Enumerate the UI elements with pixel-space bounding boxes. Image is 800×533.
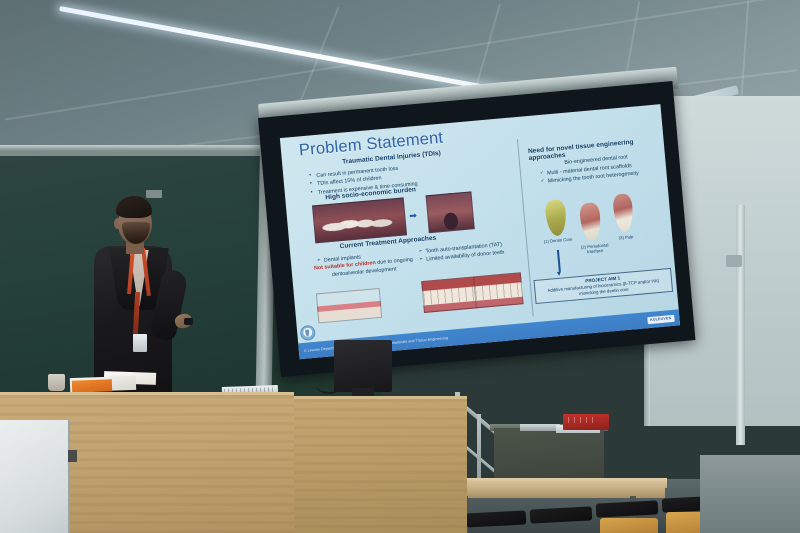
red-box bbox=[563, 414, 609, 430]
leaning-whiteboard bbox=[0, 420, 70, 533]
dental-implant-diagram bbox=[316, 288, 382, 324]
presentation-clicker bbox=[184, 318, 193, 325]
name-badge bbox=[133, 334, 147, 352]
computer-monitor[interactable] bbox=[334, 340, 392, 392]
kuleuven-logo: KULEUVEN bbox=[647, 314, 675, 323]
tooth-periodontal-interface-image bbox=[579, 202, 602, 242]
lectern-hinge bbox=[68, 450, 77, 462]
chair-seat-1 bbox=[600, 518, 658, 533]
lectern-right-section bbox=[282, 396, 467, 533]
tat-teeth-photo bbox=[421, 276, 478, 313]
down-arrow-icon bbox=[557, 250, 560, 272]
presenter-hair bbox=[116, 196, 152, 218]
lecture-hall-photo: Problem Statement Traumatic Dental Injur… bbox=[0, 0, 800, 533]
equipment-grey bbox=[520, 424, 560, 431]
lower-right-panel bbox=[700, 455, 800, 533]
clinical-photo-treated-teeth bbox=[426, 191, 475, 233]
wall-mounted-strip bbox=[736, 205, 745, 445]
tat-teeth-photo-2 bbox=[473, 272, 524, 308]
project-aim-box: PROJECT AIM 1 Additive manufacturing of … bbox=[534, 268, 674, 304]
tat-list: Tooth auto-transplantation (TAT) Limited… bbox=[418, 238, 529, 264]
tooth-dentin-core-image bbox=[545, 199, 568, 237]
projection-screen: Problem Statement Traumatic Dental Injur… bbox=[258, 81, 695, 377]
coffee-cup bbox=[48, 374, 65, 391]
wall-bracket bbox=[726, 255, 742, 267]
tooth-label-2: (2) Periodontal Interface bbox=[577, 242, 614, 256]
presenter bbox=[78, 196, 198, 396]
tooth-pulp-image bbox=[612, 193, 634, 233]
orange-package bbox=[72, 379, 112, 392]
tooth-label-1: (1) Dentin Core bbox=[536, 236, 580, 245]
arrow-right-icon: ➡ bbox=[409, 211, 417, 221]
presentation-slide: Problem Statement Traumatic Dental Injur… bbox=[280, 104, 680, 359]
clinical-photo-avulsed-teeth bbox=[312, 197, 407, 243]
tooth-label-3: (3) Pulp bbox=[612, 234, 640, 242]
university-logo-icon bbox=[300, 325, 316, 341]
